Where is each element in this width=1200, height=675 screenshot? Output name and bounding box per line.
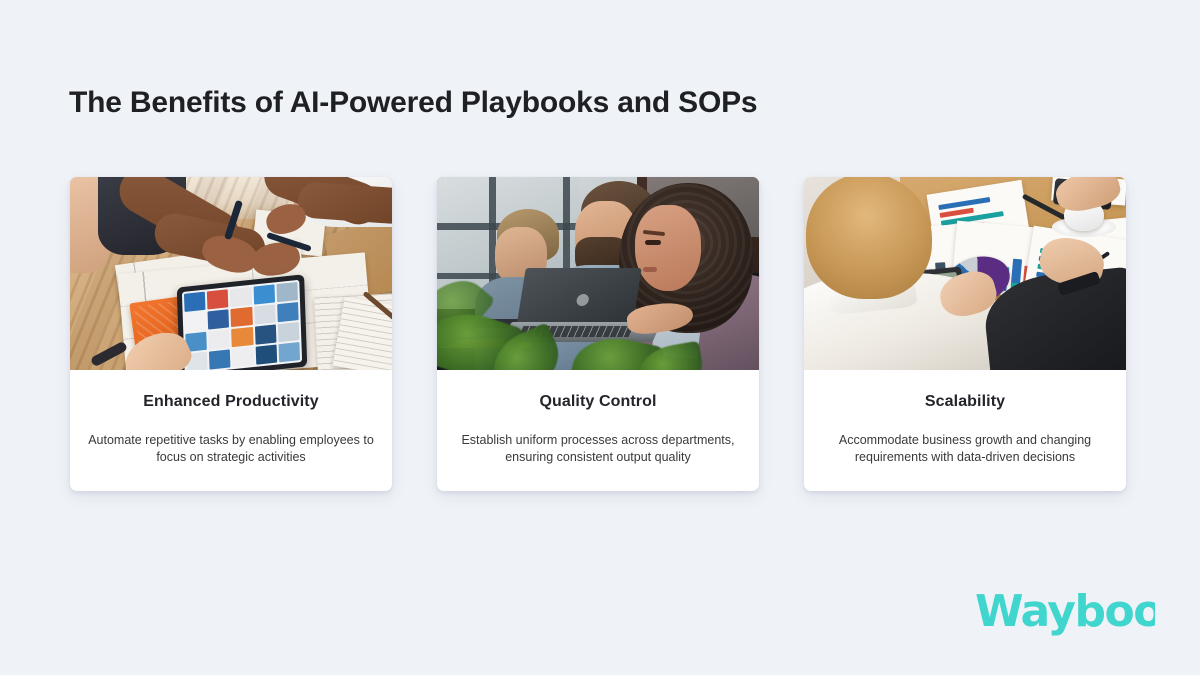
benefit-card-enhanced-productivity[interactable]: Enhanced Productivity Automate repetitiv…: [70, 177, 392, 491]
card-description: Establish uniform processes across depar…: [455, 432, 741, 465]
benefit-card-scalability[interactable]: Scalability Accommodate business growth …: [804, 177, 1126, 491]
card-body: Scalability Accommodate business growth …: [804, 370, 1126, 491]
logo-text: Waybook: [975, 586, 1155, 637]
waybook-wordmark-icon: Waybook: [975, 586, 1155, 638]
waybook-logo: Waybook: [975, 586, 1155, 638]
card-image-office-laptops: [437, 177, 759, 370]
card-title: Quality Control: [455, 392, 741, 411]
card-title: Enhanced Productivity: [88, 392, 374, 411]
page-title: The Benefits of AI-Powered Playbooks and…: [69, 86, 757, 120]
card-image-team-collaboration: [70, 177, 392, 370]
benefit-card-quality-control[interactable]: Quality Control Establish uniform proces…: [437, 177, 759, 491]
benefit-cards-row: Enhanced Productivity Automate repetitiv…: [70, 177, 1130, 491]
card-body: Quality Control Establish uniform proces…: [437, 370, 759, 491]
card-description: Accommodate business growth and changing…: [822, 432, 1108, 465]
card-description: Automate repetitive tasks by enabling em…: [88, 432, 374, 465]
slide-canvas: The Benefits of AI-Powered Playbooks and…: [0, 0, 1200, 675]
card-title: Scalability: [822, 392, 1108, 411]
card-body: Enhanced Productivity Automate repetitiv…: [70, 370, 392, 491]
card-image-business-charts-meeting: [804, 177, 1126, 370]
